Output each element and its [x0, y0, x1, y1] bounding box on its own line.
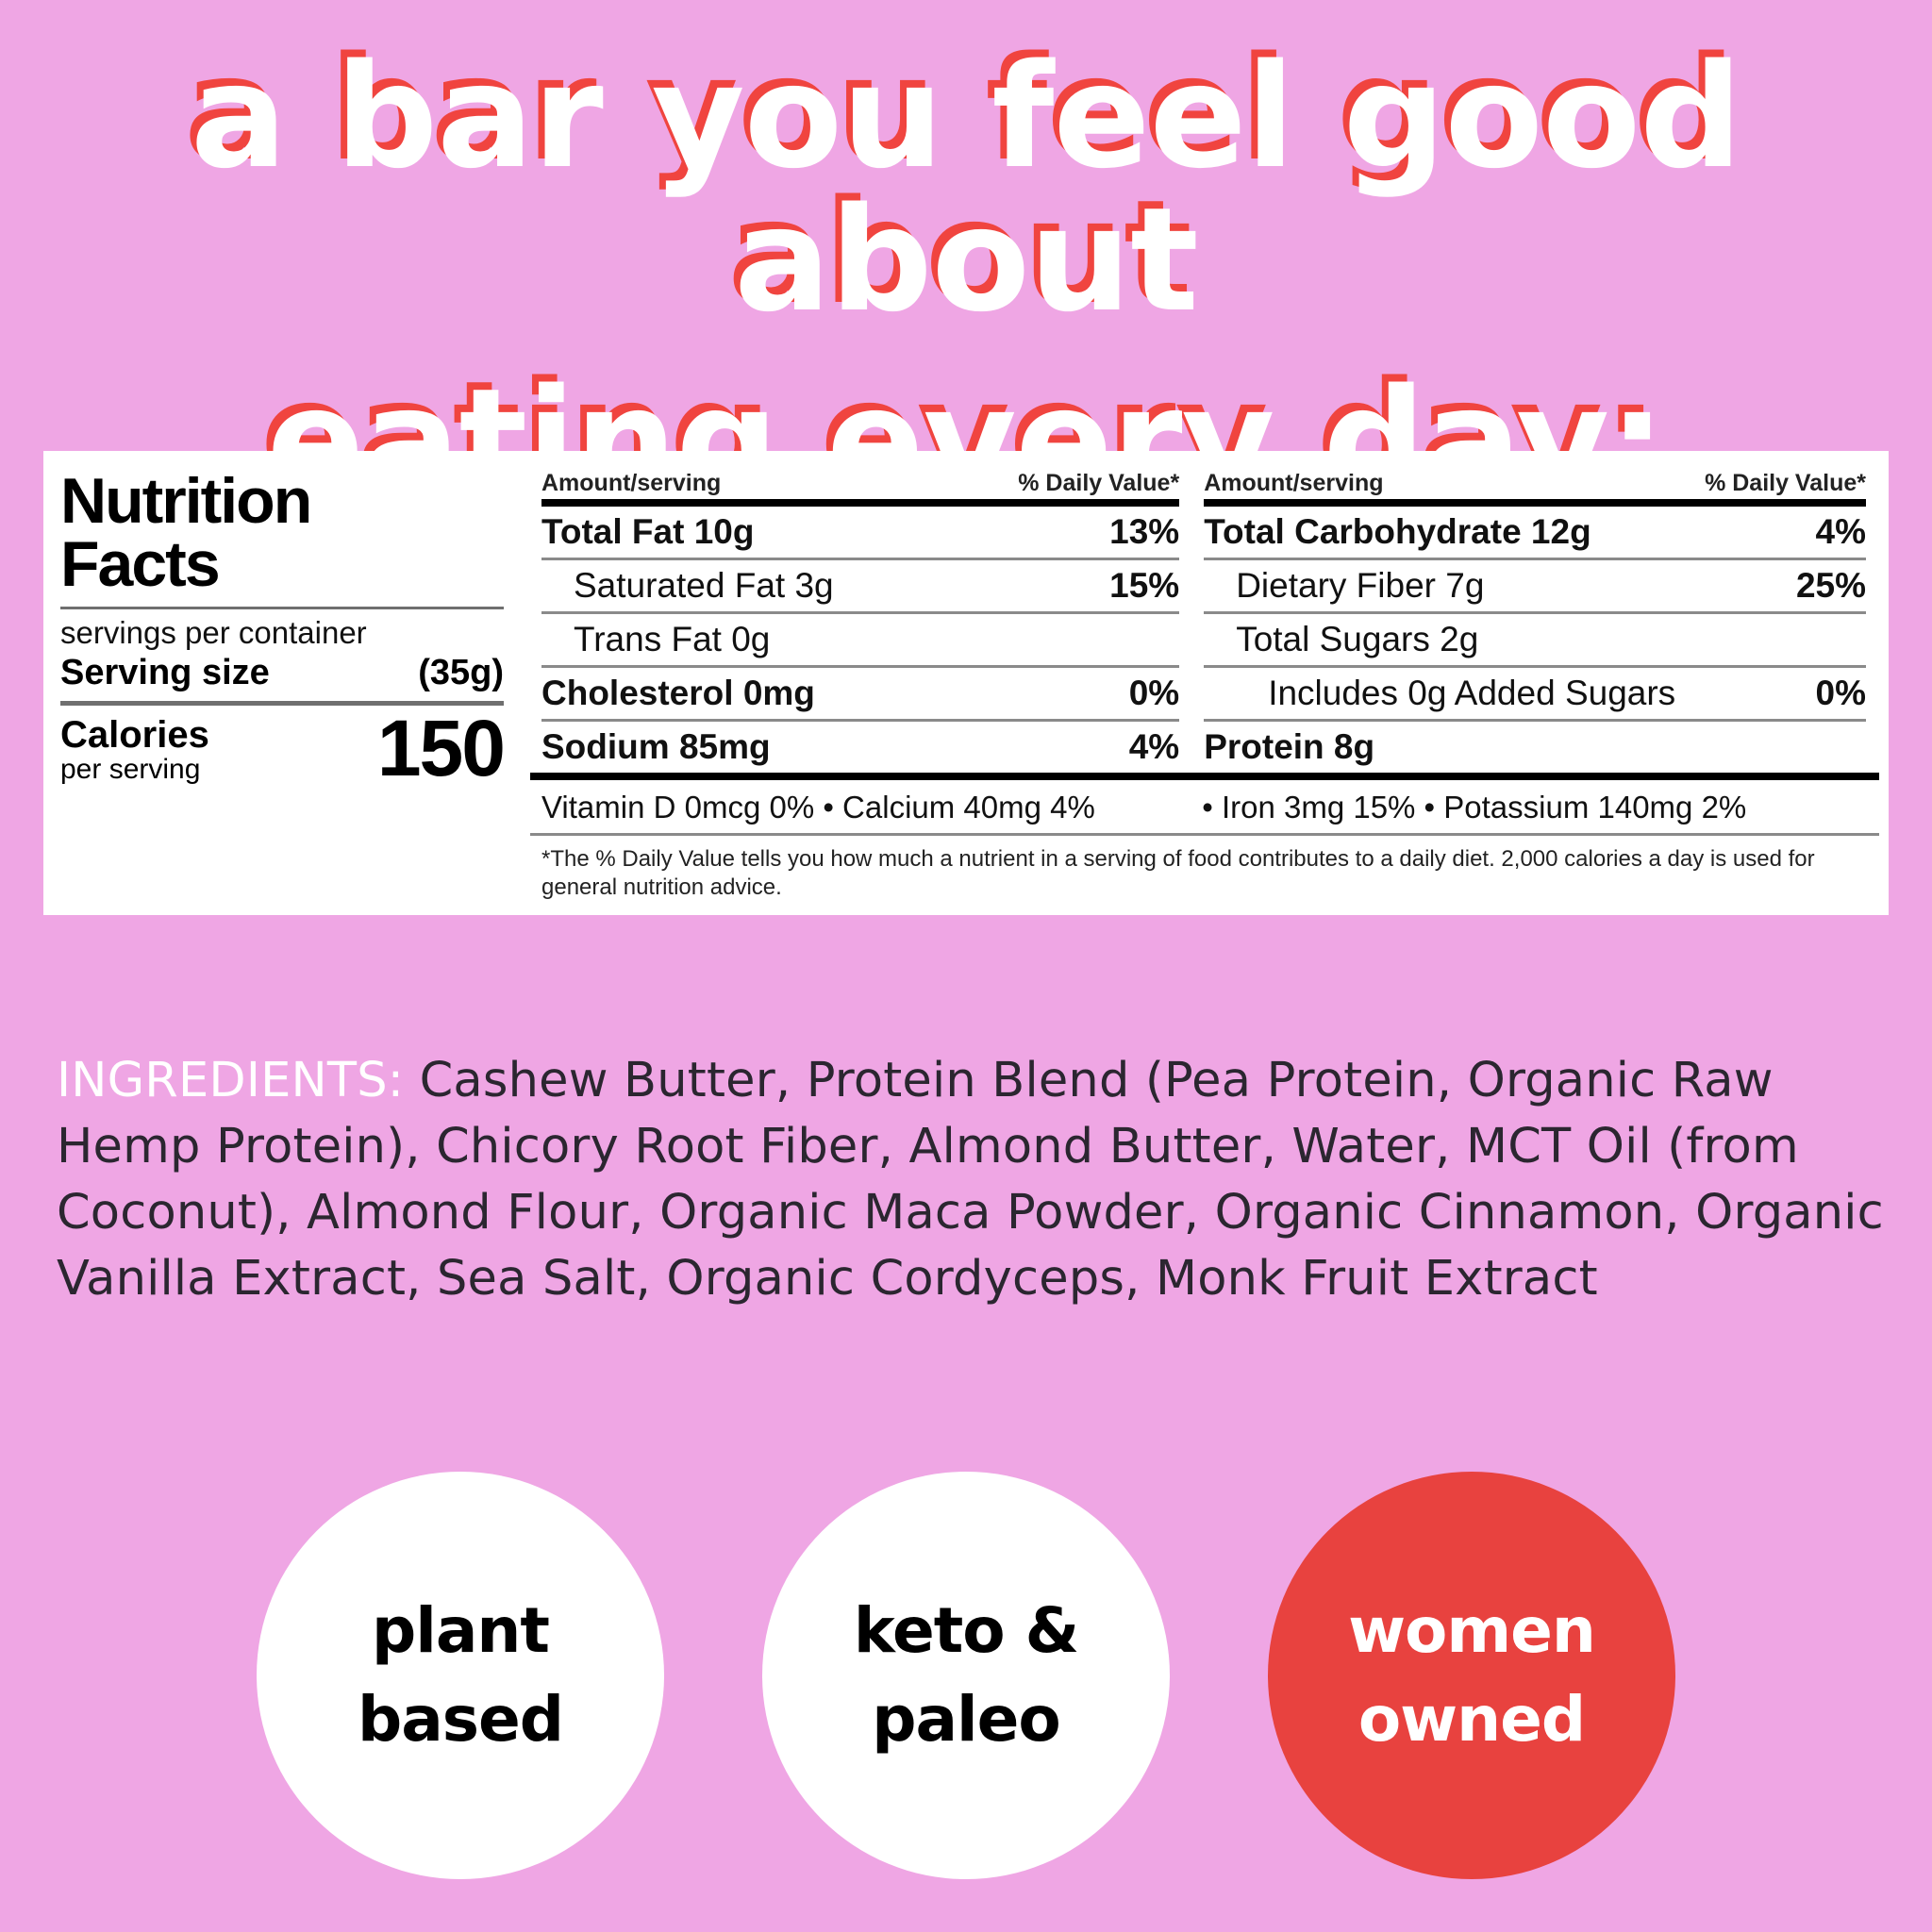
micronutrients-right: • Iron 3mg 15% • Potassium 140mg 2% — [1191, 780, 1879, 833]
badge-row: plantbasedketo &paleowomenowned — [0, 1472, 1932, 1879]
headline-line-1: a bar you feel good about — [191, 33, 1741, 343]
nutrient-daily-value: 0% — [1816, 674, 1866, 713]
nutrient-daily-value: 15% — [1109, 566, 1179, 606]
nutrition-facts-title-line2: Facts — [60, 528, 219, 600]
serving-size-row: Serving size (35g) — [60, 653, 504, 693]
daily-value-header-left: % Daily Value* — [1018, 470, 1179, 497]
badge-line-2: based — [358, 1675, 563, 1764]
nutrient-name: Total Carbohydrate 12g — [1204, 512, 1591, 552]
nutrient-row: Total Fat 10g13% — [541, 507, 1179, 558]
nutrition-facts-title-line1: Nutrition — [60, 465, 310, 537]
nutrition-facts-title: Nutrition Facts — [60, 470, 504, 595]
nutrient-daily-value: 25% — [1796, 566, 1866, 606]
daily-value-header-right: % Daily Value* — [1705, 470, 1866, 497]
calories-label: Calories — [60, 714, 209, 756]
nutrient-name: Dietary Fiber 7g — [1204, 566, 1484, 606]
badge-line-1: keto & — [854, 1587, 1078, 1675]
amount-per-serving-header-left: Amount/serving — [541, 470, 721, 497]
ingredients-paragraph: INGREDIENTS: Cashew Butter, Protein Blen… — [57, 1048, 1887, 1311]
serving-size-value: (35g) — [418, 653, 504, 693]
nutrient-row: Protein 8g — [1204, 722, 1866, 773]
nutrient-name: Total Fat 10g — [541, 512, 754, 552]
badge-line-1: women — [1348, 1587, 1595, 1675]
nutrient-row: Saturated Fat 3g15% — [541, 560, 1179, 611]
nutrient-daily-value: 4% — [1129, 727, 1179, 767]
daily-value-footnote: *The % Daily Value tells you how much a … — [530, 833, 1879, 915]
badge-keto: keto &paleo — [762, 1472, 1170, 1879]
page-headline: a bar you feel good about eating every d… — [0, 45, 1932, 513]
nutrient-row: Dietary Fiber 7g25% — [1204, 560, 1866, 611]
nutrient-name: Sodium 85mg — [541, 727, 771, 767]
nutrient-column-right: Amount/serving % Daily Value* Total Carb… — [1191, 462, 1879, 773]
nutrition-facts-data: Amount/serving % Daily Value* Total Fat … — [521, 451, 1889, 915]
nutrient-rows-right: Total Carbohydrate 12g4%Dietary Fiber 7g… — [1204, 507, 1866, 773]
header-rule-left — [541, 499, 1179, 507]
badge-women: womenowned — [1268, 1472, 1675, 1879]
nutrient-column-left: Amount/serving % Daily Value* Total Fat … — [530, 462, 1191, 773]
nutrition-facts-panel: Nutrition Facts servings per container S… — [43, 451, 1889, 915]
nutrient-row: Total Sugars 2g — [1204, 614, 1866, 665]
nutrient-name: Saturated Fat 3g — [541, 566, 834, 606]
nutrient-daily-value: 0% — [1129, 674, 1179, 713]
badge-line-2: owned — [1358, 1675, 1585, 1764]
nutrition-facts-summary: Nutrition Facts servings per container S… — [43, 451, 521, 915]
nutrition-facts-columns: Amount/serving % Daily Value* Total Fat … — [530, 462, 1879, 773]
calories-row: Calories per serving 150 — [60, 713, 504, 785]
micronutrients-left: Vitamin D 0mcg 0% • Calcium 40mg 4% — [530, 780, 1191, 833]
badge-line-1: plant — [372, 1587, 549, 1675]
nutrient-row: Includes 0g Added Sugars0% — [1204, 668, 1866, 719]
nutrient-name: Includes 0g Added Sugars — [1204, 674, 1675, 713]
nutrient-rows-left: Total Fat 10g13%Saturated Fat 3g15%Trans… — [541, 507, 1179, 773]
header-rule-right — [1204, 499, 1866, 507]
nutrient-name: Cholesterol 0mg — [541, 674, 815, 713]
nutrient-row: Cholesterol 0mg0% — [541, 668, 1179, 719]
servings-per-container: servings per container — [60, 615, 504, 651]
amount-per-serving-header-right: Amount/serving — [1204, 470, 1383, 497]
divider-under-title — [60, 607, 504, 609]
calories-sublabel: per serving — [60, 755, 209, 785]
calories-value: 150 — [377, 713, 504, 785]
badge-plant: plantbased — [257, 1472, 664, 1879]
ingredients-label: INGREDIENTS: — [57, 1053, 404, 1108]
calories-label-block: Calories per serving — [60, 715, 209, 785]
nutrient-name: Trans Fat 0g — [541, 620, 770, 659]
nutrient-row: Trans Fat 0g — [541, 614, 1179, 665]
nutrient-row: Sodium 85mg4% — [541, 722, 1179, 773]
nutrient-name: Total Sugars 2g — [1204, 620, 1478, 659]
nutrient-daily-value: 4% — [1816, 512, 1866, 552]
nutrient-row: Total Carbohydrate 12g4% — [1204, 507, 1866, 558]
nutrient-name: Protein 8g — [1204, 727, 1374, 767]
column-header-left: Amount/serving % Daily Value* — [541, 470, 1179, 499]
micronutrient-strip: Vitamin D 0mcg 0% • Calcium 40mg 4% • Ir… — [530, 773, 1879, 833]
column-header-right: Amount/serving % Daily Value* — [1204, 470, 1866, 499]
serving-size-label: Serving size — [60, 653, 270, 693]
badge-line-2: paleo — [872, 1675, 1060, 1764]
nutrient-daily-value: 13% — [1109, 512, 1179, 552]
